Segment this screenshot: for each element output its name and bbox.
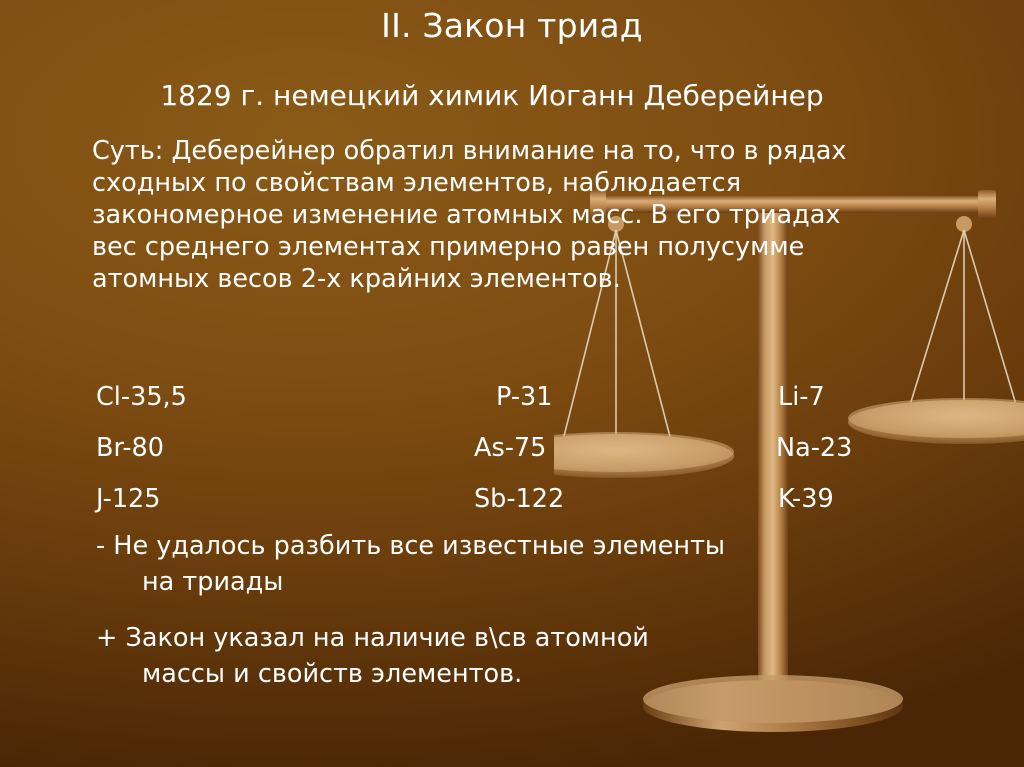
page-title: II. Закон триад	[0, 6, 1024, 46]
triad-cell: Cl-35,5	[96, 372, 187, 423]
triads-table: Cl-35,5 P-31 Li-7 Br-80 As-75 Na-23 J-12…	[96, 372, 916, 525]
triad-cell: Sb-122	[474, 474, 564, 525]
slide-subtitle: 1829 г. немецкий химик Иоганн Деберейнер	[0, 78, 1024, 114]
note-benefit-line2: массы и свойств элементов.	[96, 656, 966, 692]
table-row: Cl-35,5 P-31 Li-7	[96, 372, 916, 423]
triad-cell: P-31	[496, 372, 552, 423]
triad-cell: As-75	[474, 423, 546, 474]
note-benefit: + Закон указал на наличие в\св атомной м…	[96, 620, 966, 692]
note-benefit-line1: + Закон указал на наличие в\св атомной	[96, 623, 649, 653]
triad-cell: Br-80	[96, 423, 164, 474]
table-row: Br-80 As-75 Na-23	[96, 423, 916, 474]
note-drawback: - Не удалось разбить все известные элеме…	[96, 528, 966, 600]
note-drawback-line2: на триады	[96, 564, 966, 600]
triad-cell: J-125	[96, 474, 161, 525]
triad-cell: Li-7	[778, 372, 825, 423]
note-drawback-line1: - Не удалось разбить все известные элеме…	[96, 531, 725, 561]
table-row: J-125 Sb-122 K-39	[96, 474, 916, 525]
body-paragraph: Суть: Деберейнер обратил внимание на то,…	[92, 135, 882, 295]
slide-content: II. Закон триад 1829 г. немецкий химик И…	[0, 0, 1024, 767]
triad-cell: Na-23	[776, 423, 852, 474]
triad-cell: K-39	[778, 474, 834, 525]
slide: II. Закон триад 1829 г. немецкий химик И…	[0, 0, 1024, 767]
